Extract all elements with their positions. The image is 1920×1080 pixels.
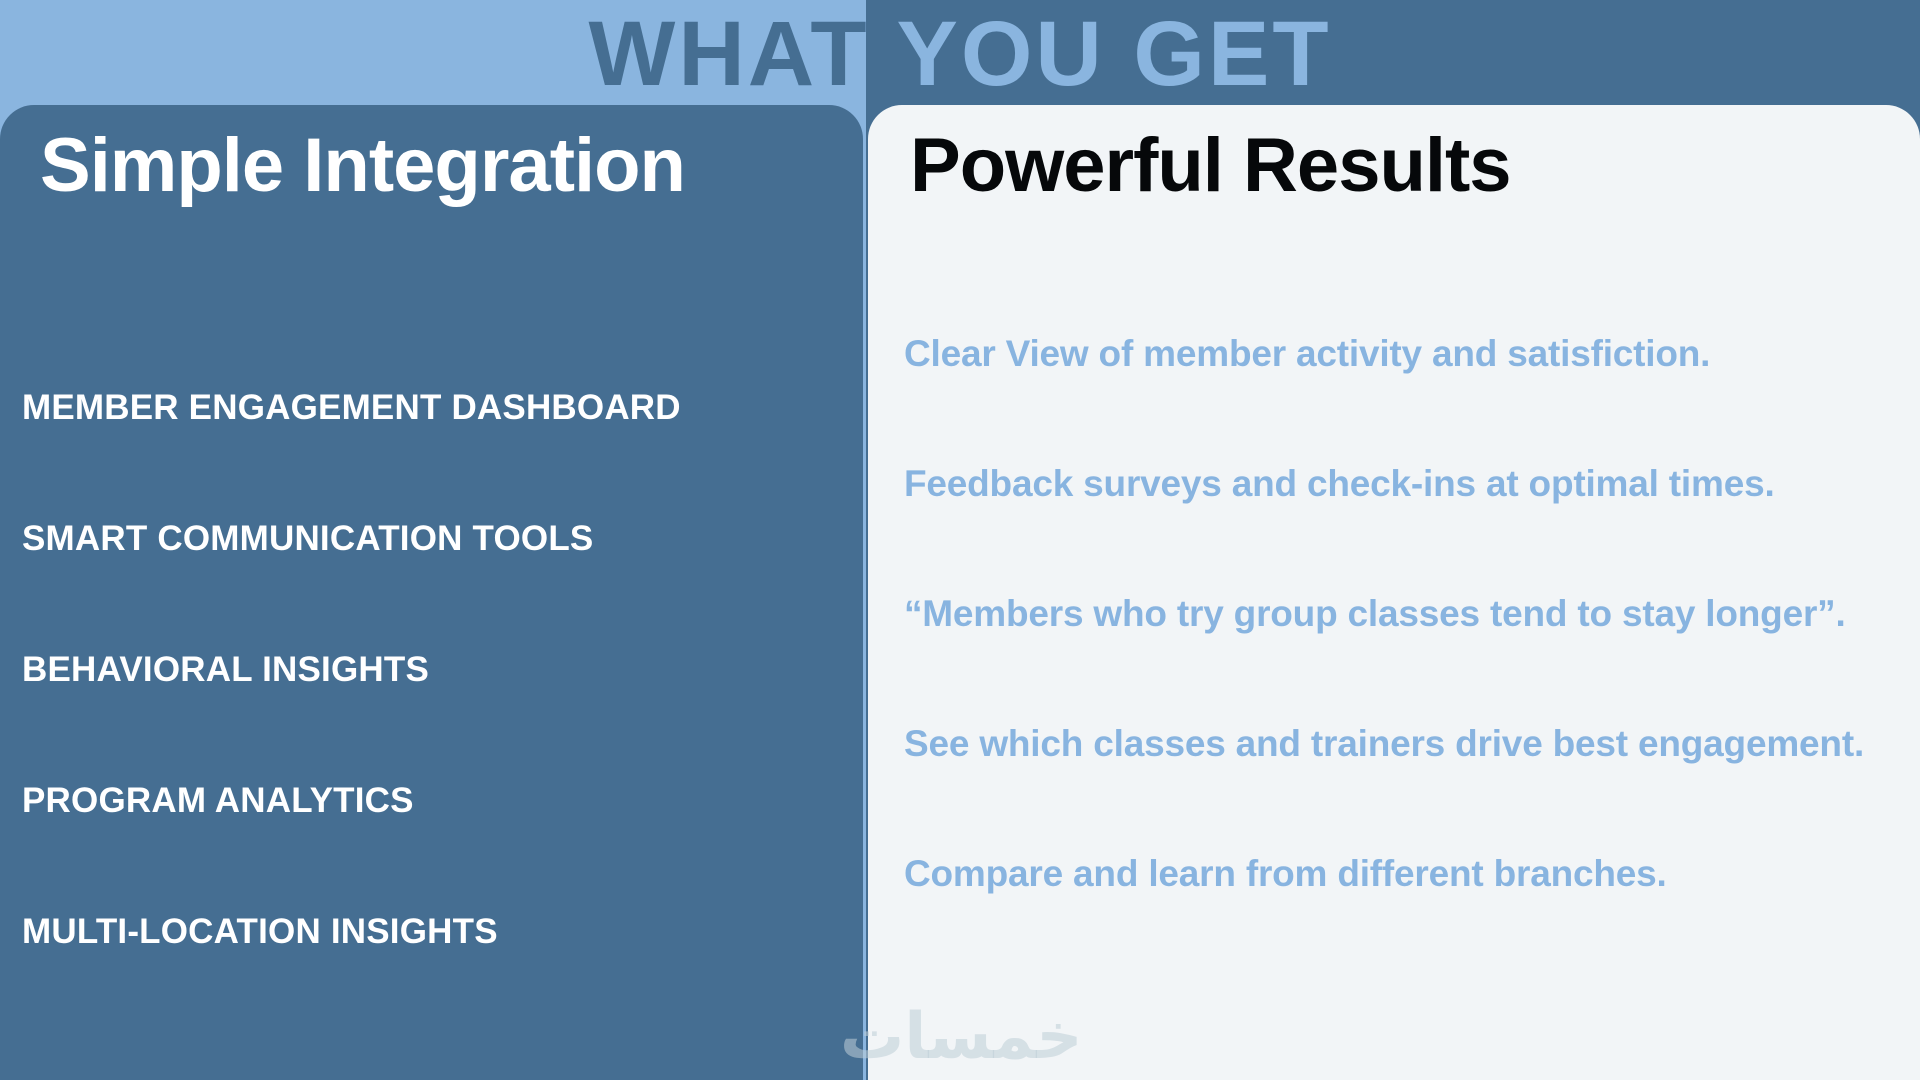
list-item[interactable]: See which classes and trainers drive bes… [904,723,1894,853]
feature-label: PROGRAM ANALYTICS [22,781,414,821]
right-card: Powerful Results Clear View of member ac… [868,105,1920,1080]
feature-list: MEMBER ENGAGEMENT DASHBOARD SMART COMMUN… [22,342,842,997]
feature-label: SMART COMMUNICATION TOOLS [22,519,593,559]
list-item[interactable]: MEMBER ENGAGEMENT DASHBOARD [22,342,842,473]
feature-label: BEHAVIORAL INSIGHTS [22,650,429,690]
left-column-title: Simple Integration [22,127,843,205]
list-item[interactable]: MULTI-LOCATION INSIGHTS [22,866,842,997]
benefit-list: Clear View of member activity and satisf… [904,333,1894,983]
list-item[interactable]: Clear View of member activity and satisf… [904,333,1894,463]
feature-label: MULTI-LOCATION INSIGHTS [22,912,498,952]
feature-label: MEMBER ENGAGEMENT DASHBOARD [22,388,681,428]
left-card: Simple Integration MEMBER ENGAGEMENT DAS… [0,105,863,1080]
list-item[interactable]: PROGRAM ANALYTICS [22,735,842,866]
right-column-title: Powerful Results [904,127,1890,205]
list-item[interactable]: Compare and learn from different branche… [904,853,1894,983]
list-item[interactable]: BEHAVIORAL INSIGHTS [22,604,842,735]
list-item[interactable]: Feedback surveys and check-ins at optima… [904,463,1894,593]
slide-canvas: WHAT YOU GET WHAT YOU GET Simple Integra… [0,0,1920,1080]
list-item[interactable]: SMART COMMUNICATION TOOLS [22,473,842,604]
list-item[interactable]: “Members who try group classes tend to s… [904,593,1894,723]
